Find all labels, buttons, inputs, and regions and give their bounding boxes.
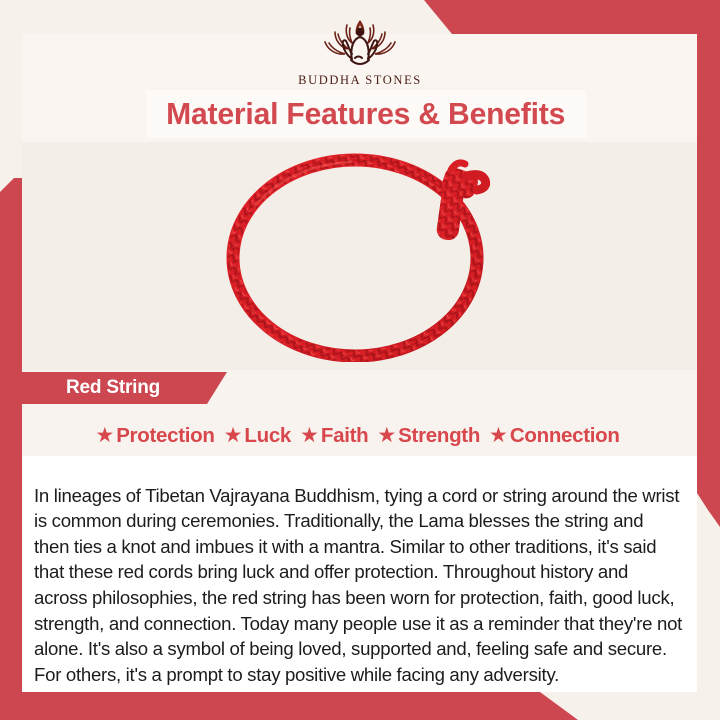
- benefit-label: Luck: [244, 424, 291, 448]
- product-tag-label: Red String: [66, 377, 160, 399]
- frame-left-bar: [0, 178, 22, 720]
- benefits-row: ★ Protection ★ Luck ★ Faith ★ Strength ★…: [22, 418, 697, 454]
- product-tag: Red String: [22, 372, 227, 404]
- page-title-box: Material Features & Benefits: [146, 90, 586, 138]
- star-icon: ★: [224, 425, 243, 446]
- benefit-item: ★ Luck: [224, 424, 291, 448]
- frame-bottom-bar: [0, 692, 720, 720]
- star-icon: ★: [489, 425, 508, 446]
- description-paragraph: In lineages of Tibetan Vajrayana Buddhis…: [34, 483, 683, 688]
- description-box: In lineages of Tibetan Vajrayana Buddhis…: [22, 456, 697, 692]
- benefit-label: Connection: [510, 424, 620, 448]
- benefit-item: ★ Protection: [95, 424, 214, 448]
- benefit-item: ★ Strength: [377, 424, 480, 448]
- product-image-area: [22, 142, 697, 370]
- benefit-item: ★ Faith: [300, 424, 368, 448]
- lotus-meditation-icon: [317, 14, 403, 72]
- star-icon: ★: [377, 425, 396, 446]
- infographic-poster: BUDDHA STONES Material Features & Benefi…: [0, 0, 720, 720]
- page-title: Material Features & Benefits: [167, 96, 566, 132]
- benefit-label: Strength: [398, 424, 480, 448]
- star-icon: ★: [300, 425, 319, 446]
- red-braided-string-bracelet-icon: [215, 152, 505, 362]
- brand-logo: BUDDHA STONES: [0, 14, 720, 92]
- brand-wordmark: BUDDHA STONES: [298, 73, 422, 88]
- benefit-label: Faith: [321, 424, 368, 448]
- star-icon: ★: [95, 425, 114, 446]
- benefit-item: ★ Connection: [489, 424, 620, 448]
- benefit-label: Protection: [116, 424, 214, 448]
